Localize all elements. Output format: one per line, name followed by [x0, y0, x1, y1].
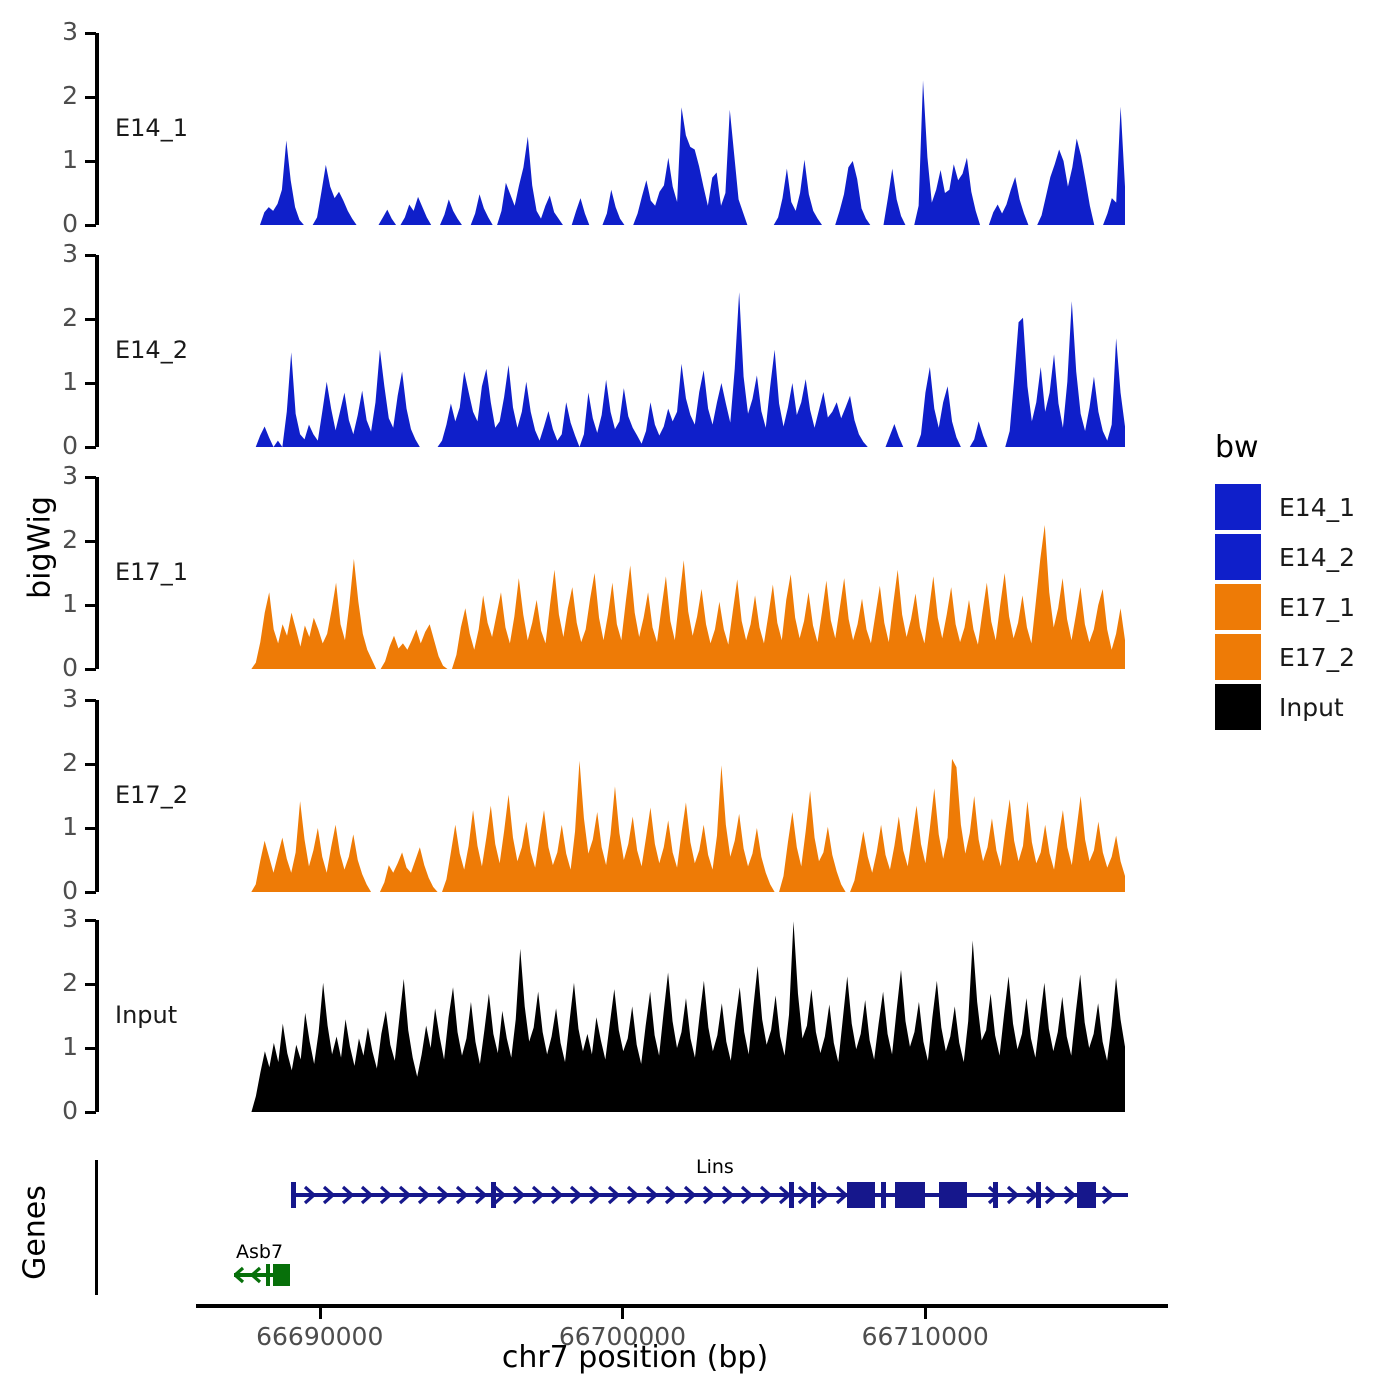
track-label-e14_1: E14_1 [115, 114, 188, 142]
y-axis-tick-label: 1 [40, 1034, 78, 1059]
y-axis-tick-label: 0 [40, 1098, 78, 1123]
genes-axis-line [95, 1160, 98, 1295]
legend-swatch-e17_2 [1215, 634, 1261, 680]
y-axis-tick-label: 2 [40, 970, 78, 995]
y-axis-tick [85, 96, 96, 99]
x-axis-tick [319, 1308, 322, 1319]
legend-label-input: Input [1279, 693, 1344, 722]
y-axis-tick-label: 2 [40, 750, 78, 775]
y-axis-tick [85, 763, 96, 766]
y-axis-tick-label: 0 [40, 433, 78, 458]
x-axis-tick-label: 66710000 [815, 1322, 1035, 1351]
y-axis-tick-label: 1 [40, 147, 78, 172]
gene-lins-glyph [291, 1178, 1128, 1212]
y-axis-tick-label: 0 [40, 211, 78, 236]
y-axis-tick-label: 3 [40, 463, 78, 488]
y-axis-tick [85, 827, 96, 830]
y-axis-tick [85, 382, 96, 385]
gene-asb7-label: Asb7 [236, 1241, 283, 1263]
x-axis-tick [924, 1308, 927, 1319]
y-axis-tick [85, 699, 96, 702]
y-axis-tick [85, 891, 96, 894]
y-axis-tick [85, 318, 96, 321]
legend-swatch-input [1215, 684, 1261, 730]
legend-title: bw [1215, 430, 1355, 465]
y-axis-tick-label: 2 [40, 527, 78, 552]
track-label-input: Input [115, 1001, 177, 1029]
y-axis-tick-label: 3 [40, 686, 78, 711]
legend-swatch-e14_1 [1215, 484, 1261, 530]
y-axis-tick [85, 32, 96, 35]
y-axis-line [95, 477, 99, 669]
y-axis-tick-label: 3 [40, 906, 78, 931]
track-signal-input [238, 920, 1125, 1112]
y-axis-line [95, 255, 99, 447]
y-axis-tick-label: 2 [40, 83, 78, 108]
y-axis-tick [85, 668, 96, 671]
legend-item-e14_1[interactable]: E14_1 [1215, 483, 1355, 531]
gene-asb7-glyph [234, 1262, 290, 1288]
x-axis-tick-label: 66690000 [210, 1322, 430, 1351]
y-axis-tick [85, 224, 96, 227]
y-axis-tick [85, 476, 96, 479]
x-axis-tick [621, 1308, 624, 1319]
legend-items: E14_1E14_2E17_1E17_2Input [1215, 483, 1355, 731]
legend-swatch-e14_2 [1215, 534, 1261, 580]
gene-lins[interactable]: Lins [291, 1178, 1128, 1216]
y-axis-tick [85, 1047, 96, 1050]
track-signal-e14_1 [238, 33, 1125, 225]
legend: bw E14_1E14_2E17_1E17_2Input [1215, 430, 1355, 733]
y-axis-tick [85, 254, 96, 257]
y-axis-line [95, 920, 99, 1112]
y-axis-line [95, 700, 99, 892]
x-axis-tick-label: 66700000 [512, 1322, 732, 1351]
y-axis-tick-label: 1 [40, 369, 78, 394]
y-axis-tick [85, 446, 96, 449]
y-axis-tick-label: 2 [40, 305, 78, 330]
legend-item-e17_2[interactable]: E17_2 [1215, 633, 1355, 681]
y-axis-tick [85, 604, 96, 607]
legend-item-input[interactable]: Input [1215, 683, 1355, 731]
track-signal-e14_2 [238, 255, 1125, 447]
y-axis-tick-label: 1 [40, 814, 78, 839]
legend-label-e17_2: E17_2 [1279, 643, 1355, 672]
track-label-e17_1: E17_1 [115, 558, 188, 586]
legend-label-e14_1: E14_1 [1279, 493, 1355, 522]
legend-item-e14_2[interactable]: E14_2 [1215, 533, 1355, 581]
track-label-e17_2: E17_2 [115, 781, 188, 809]
y-axis-tick [85, 983, 96, 986]
track-signal-e17_2 [238, 700, 1125, 892]
genes-axis-title: Genes [18, 1143, 53, 1323]
y-axis-tick [85, 919, 96, 922]
y-axis-tick-label: 0 [40, 878, 78, 903]
gene-asb7[interactable]: Asb7 [234, 1262, 290, 1292]
y-axis-tick [85, 1111, 96, 1114]
y-axis-tick [85, 160, 96, 163]
legend-label-e14_2: E14_2 [1279, 543, 1355, 572]
track-label-e14_2: E14_2 [115, 336, 188, 364]
legend-swatch-e17_1 [1215, 584, 1261, 630]
y-axis-tick-label: 3 [40, 241, 78, 266]
legend-label-e17_1: E17_1 [1279, 593, 1355, 622]
y-axis-tick-label: 1 [40, 591, 78, 616]
y-axis-tick-label: 0 [40, 655, 78, 680]
track-signal-e17_1 [238, 477, 1125, 669]
x-axis-line [196, 1304, 1168, 1308]
legend-item-e17_1[interactable]: E17_1 [1215, 583, 1355, 631]
y-axis-tick-label: 3 [40, 19, 78, 44]
gene-lins-label: Lins [696, 1156, 734, 1178]
y-axis-tick [85, 540, 96, 543]
y-axis-line [95, 33, 99, 225]
